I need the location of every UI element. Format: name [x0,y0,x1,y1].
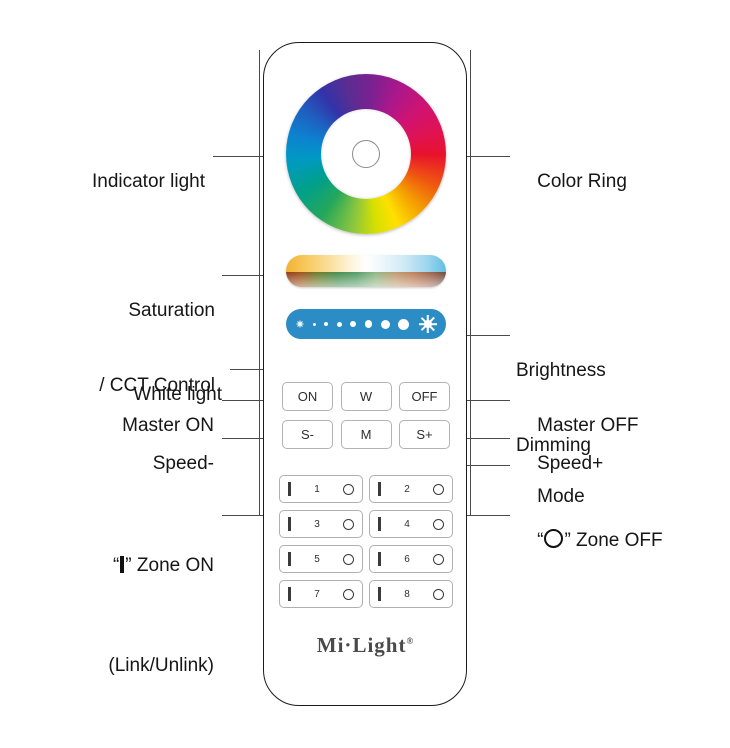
button-off[interactable]: OFF [399,382,450,411]
button-speed-minus-label: S- [301,427,314,442]
button-off-label: OFF [412,389,438,404]
zone-on-i-icon[interactable] [378,482,381,496]
zone-off-o-icon[interactable] [343,519,354,530]
callout-zone-on: “” Zone ON (Link/Unlink) [10,478,214,728]
callout-speed-minus-label: Speed- [153,453,214,474]
button-on-label: ON [298,389,318,404]
callout-zone-on-line2: (Link/Unlink) [10,653,214,678]
zone-off-o-icon[interactable] [343,589,354,600]
zone-button-grid: 1 2 3 4 5 [279,475,453,608]
zone-off-o-icon[interactable] [343,554,354,565]
zone-button-6[interactable]: 6 [369,545,453,573]
zone-number: 8 [404,589,410,600]
zone-off-o-icon[interactable] [433,519,444,530]
small-sun-icon [295,320,304,329]
button-speed-plus-label: S+ [416,427,432,442]
brightness-dot [365,320,373,328]
callout-brightness-line1: Brightness [516,358,716,383]
brightness-dot [350,321,356,327]
callout-zone-on-line1: “” Zone ON [10,528,214,603]
remote-body: ON W OFF S- M S+ 1 [263,42,467,706]
remote-annotated-diagram: Indicator light Saturation / CCT Control… [0,0,730,748]
cct-reflection-fade [286,272,446,287]
left-leader-rail [259,50,260,516]
zone-number: 2 [404,484,410,495]
zone-off-o-icon[interactable] [433,554,444,565]
zone-off-o-icon[interactable] [343,484,354,495]
brand-logo: Mi·Light® [264,633,466,658]
zone-on-i-icon[interactable] [378,517,381,531]
right-leader-rail [470,50,471,516]
zone-on-i-glyph-icon [120,556,124,573]
zone-number: 7 [314,589,320,600]
indicator-light [352,140,380,168]
brightness-dot [337,322,342,327]
zone-on-i-icon[interactable] [288,517,291,531]
zone-button-4[interactable]: 4 [369,510,453,538]
callout-saturation-line1: Saturation [10,298,215,323]
zone-number: 6 [404,554,410,565]
button-on[interactable]: ON [282,382,333,411]
large-sun-icon [418,315,437,334]
zone-on-i-icon[interactable] [288,482,291,496]
zone-on-i-icon[interactable] [288,587,291,601]
callout-zone-off-quote-open: “ [537,530,543,551]
zone-off-o-glyph-icon [544,529,563,548]
zone-button-2[interactable]: 2 [369,475,453,503]
zone-off-o-icon[interactable] [433,484,444,495]
callout-indicator-light-label: Indicator light [92,171,205,192]
button-speed-plus[interactable]: S+ [399,420,450,449]
brightness-dot [398,319,409,330]
brand-name: Mi·Light [317,633,407,657]
callout-zone-on-quote-open: “ [113,555,119,576]
function-row-speed-mode: S- M S+ [282,420,450,449]
callout-zone-off: “” Zone OFF [516,503,721,578]
zone-number: 1 [314,484,320,495]
button-white-light[interactable]: W [341,382,392,411]
zone-on-i-icon[interactable] [288,552,291,566]
button-white-light-label: W [360,389,372,404]
zone-on-i-icon[interactable] [378,552,381,566]
saturation-cct-control[interactable] [286,255,446,287]
brightness-dot [324,322,328,326]
callout-zone-off-text: ” Zone OFF [564,530,662,551]
zone-number: 3 [314,519,320,530]
zone-button-7[interactable]: 7 [279,580,363,608]
zone-button-5[interactable]: 5 [279,545,363,573]
callout-color-ring-label: Color Ring [537,171,627,192]
zone-on-i-icon[interactable] [378,587,381,601]
zone-button-3[interactable]: 3 [279,510,363,538]
zone-button-8[interactable]: 8 [369,580,453,608]
button-speed-minus[interactable]: S- [282,420,333,449]
button-mode[interactable]: M [341,420,392,449]
zone-number: 4 [404,519,410,530]
button-mode-label: M [361,427,372,442]
brightness-dot [313,323,316,326]
zone-off-o-icon[interactable] [433,589,444,600]
brightness-dimming-slider[interactable] [286,309,446,339]
callout-indicator-light: Indicator light [20,144,205,219]
brand-registered-mark: ® [406,636,413,646]
callout-color-ring: Color Ring [516,144,716,219]
zone-number: 5 [314,554,320,565]
brightness-dot [381,320,390,329]
zone-button-1[interactable]: 1 [279,475,363,503]
color-ring[interactable] [286,74,446,234]
function-row-power: ON W OFF [282,382,450,411]
callout-zone-on-text: ” Zone ON [125,555,214,576]
